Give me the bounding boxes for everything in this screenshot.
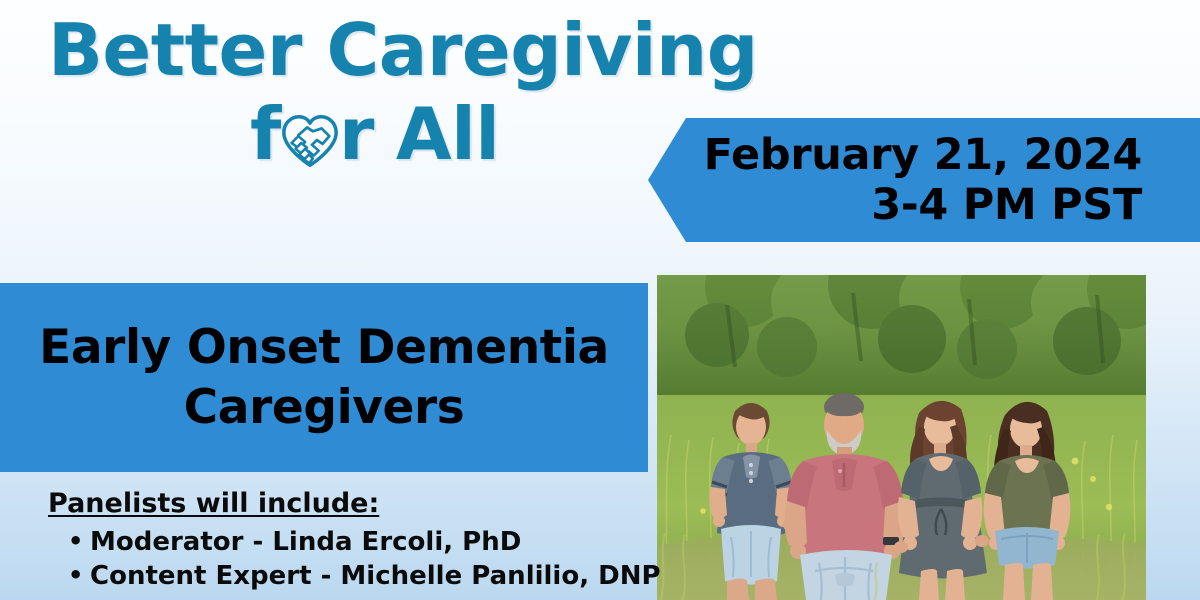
date-time-banner: February 21, 2024 3-4 PM PST: [648, 118, 1200, 242]
headline-line-1: Better Caregiving: [0, 8, 660, 92]
panelists-heading: Panelists will include:: [48, 487, 648, 521]
headline-for-r: r: [339, 92, 374, 176]
headline-for-f: f: [250, 92, 281, 176]
page-title: Better Caregiving f r All: [0, 8, 660, 176]
handshake-heart-icon: [279, 105, 341, 167]
event-time: 3-4 PM PST: [871, 180, 1142, 230]
webinar-flyer: Better Caregiving f r All February 21, 2…: [0, 0, 1200, 600]
panelists-list: Moderator - Linda Ercoli, PhD Content Ex…: [48, 525, 648, 593]
event-date: February 21, 2024: [704, 130, 1142, 180]
topic-banner: Early Onset Dementia Caregivers: [0, 283, 648, 472]
panelists-section: Panelists will include: Moderator - Lind…: [48, 487, 648, 593]
topic-line-1: Early Onset Dementia: [39, 318, 609, 378]
list-item: Content Expert - Michelle Panlilio, DNP: [68, 559, 648, 593]
headline-all: All: [396, 92, 500, 176]
family-photo: [657, 275, 1146, 600]
topic-line-2: Caregivers: [184, 378, 465, 438]
headline-line-2: f r All: [0, 92, 660, 176]
list-item: Moderator - Linda Ercoli, PhD: [68, 525, 648, 559]
